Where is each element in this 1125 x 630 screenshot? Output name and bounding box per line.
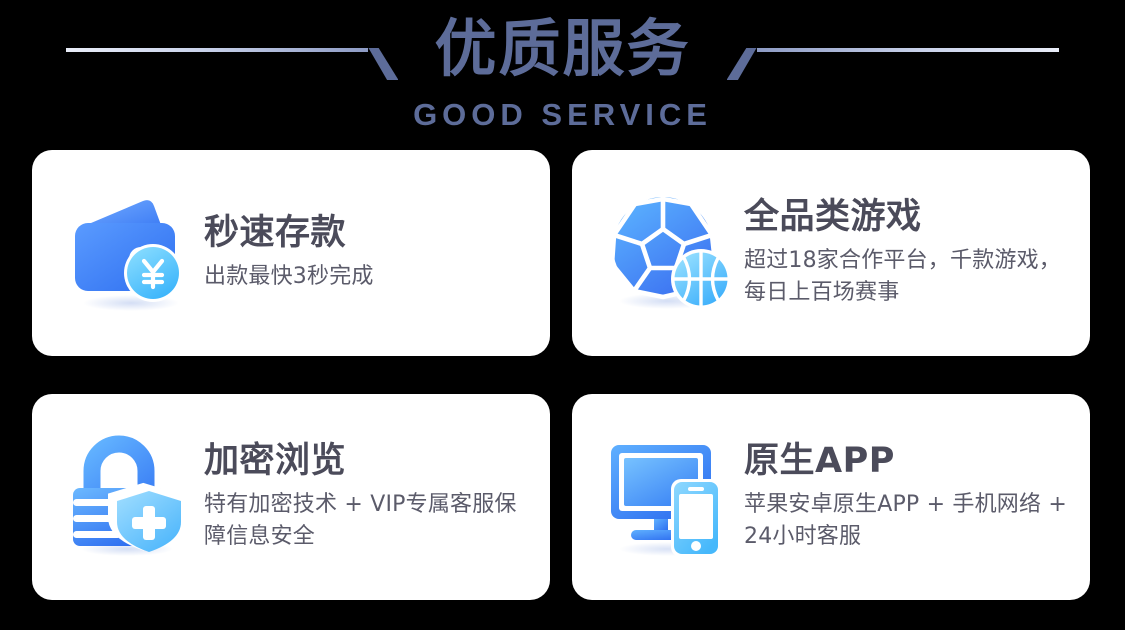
card-text-games: 全品类游戏 超过18家合作平台，千款游戏，每日上百场赛事 [740, 197, 1090, 309]
card-title: 原生APP [744, 441, 1076, 481]
monitor-phone-icon [602, 428, 740, 566]
card-description: 出款最快3秒完成 [204, 261, 536, 293]
title-row: 优质服务 [0, 8, 1125, 90]
card-text-encryption: 加密浏览 特有加密技术 + VIP专属客服保障信息安全 [200, 441, 550, 553]
feature-card-encryption[interactable]: 加密浏览 特有加密技术 + VIP专属客服保障信息安全 [32, 394, 550, 600]
card-title: 全品类游戏 [744, 197, 1076, 237]
card-description: 超过18家合作平台，千款游戏，每日上百场赛事 [744, 245, 1076, 309]
wallet-yen-icon [62, 184, 200, 322]
lock-shield-icon [62, 428, 200, 566]
card-text-native-app: 原生APP 苹果安卓原生APP + 手机网络 + 24小时客服 [740, 441, 1090, 553]
page-title: 优质服务 [420, 18, 704, 80]
card-description: 特有加密技术 + VIP专属客服保障信息安全 [204, 489, 536, 553]
rule-line-right-icon [757, 48, 1059, 52]
decorative-rule-left [32, 19, 420, 79]
rule-tail-left-icon [368, 48, 398, 80]
card-text-deposit: 秒速存款 出款最快3秒完成 [200, 213, 550, 293]
rule-tail-right-icon [727, 48, 757, 80]
rule-line-left-icon [66, 48, 368, 52]
feature-card-grid: 秒速存款 出款最快3秒完成 [32, 150, 1094, 600]
feature-card-native-app[interactable]: 原生APP 苹果安卓原生APP + 手机网络 + 24小时客服 [572, 394, 1090, 600]
decorative-rule-right [705, 19, 1093, 79]
card-title: 加密浏览 [204, 441, 536, 481]
feature-card-deposit[interactable]: 秒速存款 出款最快3秒完成 [32, 150, 550, 356]
feature-card-games[interactable]: 全品类游戏 超过18家合作平台，千款游戏，每日上百场赛事 [572, 150, 1090, 356]
card-title: 秒速存款 [204, 213, 536, 253]
card-description: 苹果安卓原生APP + 手机网络 + 24小时客服 [744, 489, 1076, 553]
page-header: 优质服务 GOOD SERVICE [0, 0, 1125, 150]
soccer-basketball-icon [602, 184, 740, 322]
page-subtitle: GOOD SERVICE [0, 97, 1125, 133]
